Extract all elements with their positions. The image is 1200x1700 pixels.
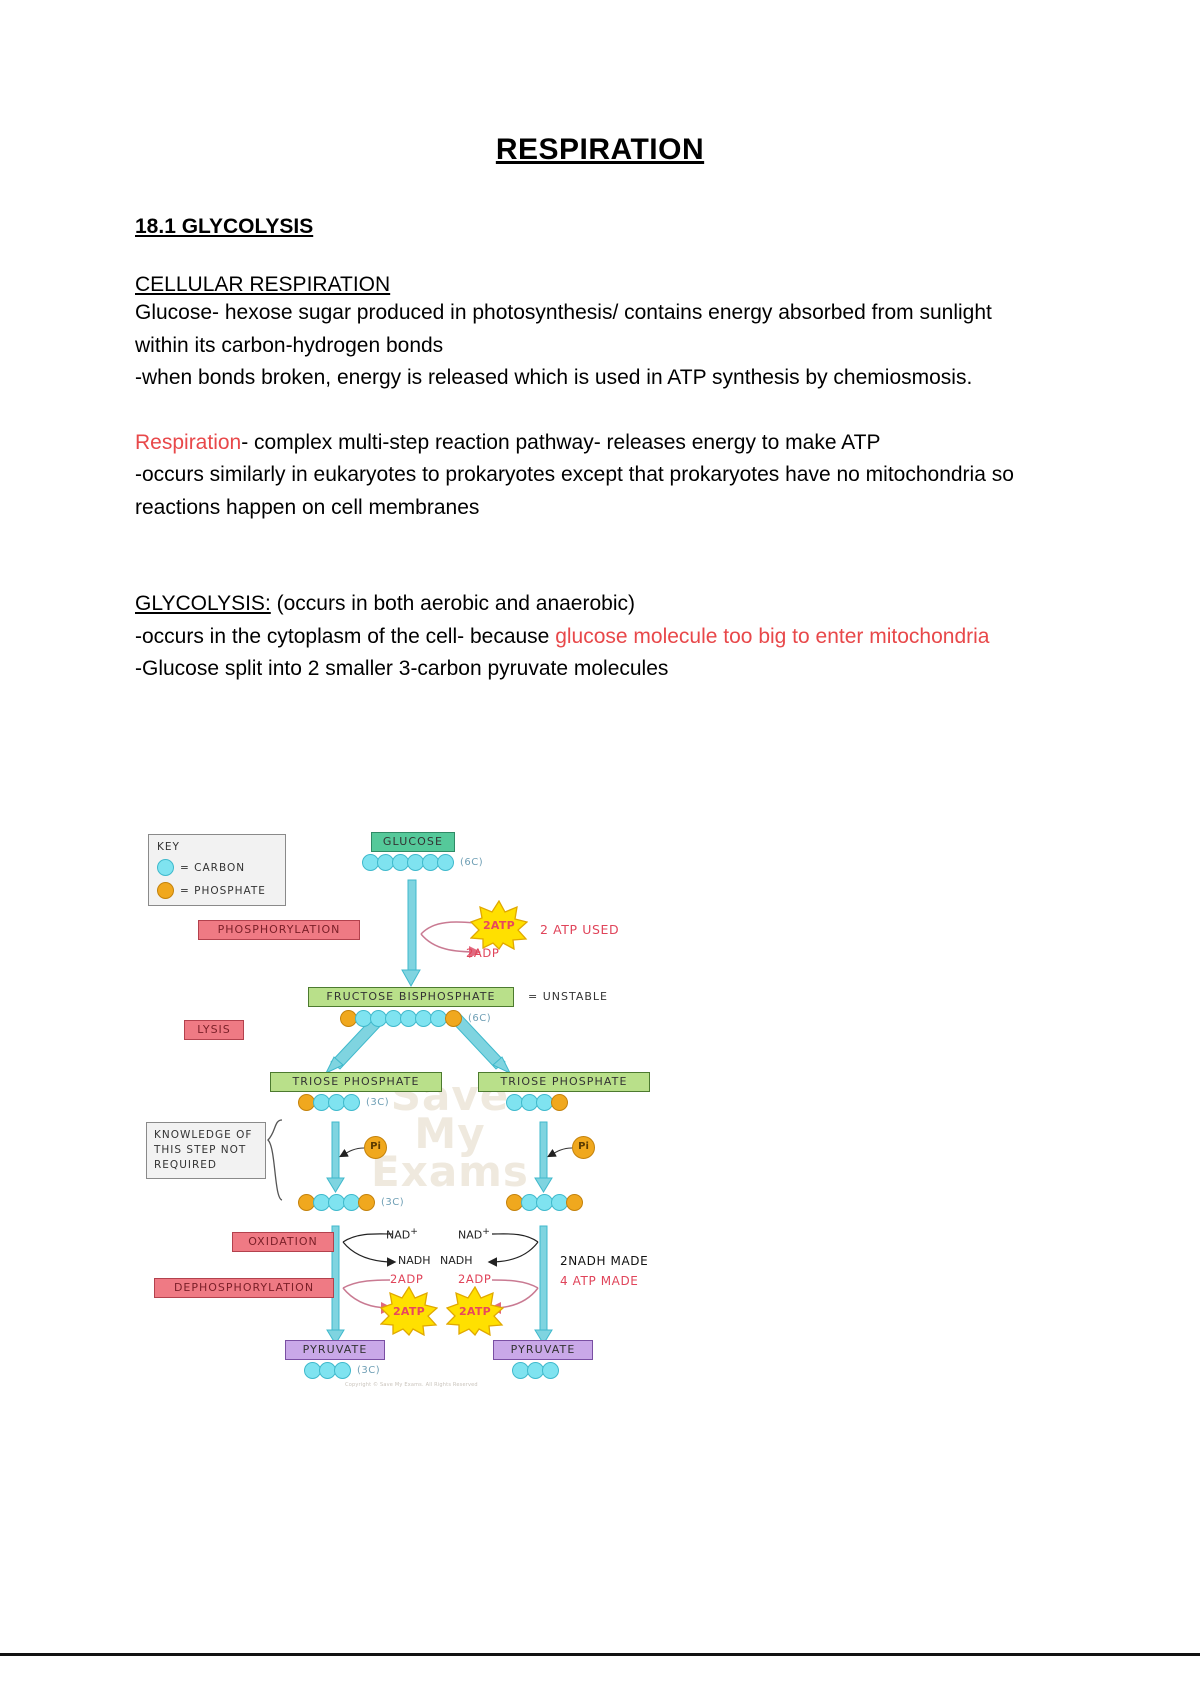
label-dephosphorylation: DEPHOSPHORYLATION <box>154 1278 334 1298</box>
label-triose-phosphate-right: TRIOSE PHOSPHATE <box>478 1072 650 1092</box>
nad-text: NAD <box>386 1229 410 1242</box>
phosphate-circle-icon <box>358 1194 375 1211</box>
page-title: RESPIRATION <box>0 133 1200 167</box>
label-lysis: LYSIS <box>184 1020 244 1040</box>
glycolysis-paragraph-2: -Glucose split into 2 smaller 3-carbon p… <box>135 653 1035 686</box>
nadh-label-right: NADH <box>440 1254 473 1267</box>
cellular-respiration-paragraph-2: -when bonds broken, energy is released w… <box>135 362 1035 395</box>
adp-label-right: 2ADP <box>458 1272 491 1286</box>
label-pyruvate-right: PYRUVATE <box>493 1340 593 1360</box>
molecule-triose-left-bottom: (3C) <box>298 1194 404 1211</box>
glycolysis-diagram: Save My Exams Copyright © Save My Exams.… <box>140 822 720 1402</box>
nadh-label-left: NADH <box>398 1254 431 1267</box>
glycolysis-paragraph-1: -occurs in the cytoplasm of the cell- be… <box>135 621 1035 654</box>
document-page: RESPIRATION 18.1 GLYCOLYSIS CELLULAR RES… <box>0 0 1200 1700</box>
carbon-circle-icon <box>437 854 454 871</box>
copyright-notice: Copyright © Save My Exams. All Rights Re… <box>345 1382 478 1388</box>
atp-star-label: 2ATP <box>380 1305 438 1318</box>
nad-plus-label-left: NAD+ <box>386 1226 418 1242</box>
atp-used-note: 2 ATP USED <box>540 922 619 937</box>
nad-text: NAD <box>458 1229 482 1242</box>
molecule-triose-right-bottom <box>506 1194 581 1211</box>
knowledge-note-box: KNOWLEDGE OF THIS STEP NOT REQUIRED <box>146 1122 266 1179</box>
nad-sup: + <box>410 1226 418 1237</box>
phosphate-circle-icon <box>157 882 174 899</box>
carbon-circle-icon <box>542 1362 559 1379</box>
atp-star-label: 2ATP <box>470 919 528 932</box>
key-carbon-label: = CARBON <box>180 862 245 874</box>
adp-label-left: 2ADP <box>390 1272 423 1286</box>
label-glucose: GLUCOSE <box>371 832 455 852</box>
document-body: 18.1 GLYCOLYSIS CELLULAR RESPIRATION Glu… <box>135 215 1035 686</box>
phosphate-circle-icon <box>551 1094 568 1111</box>
cellular-respiration-heading: CELLULAR RESPIRATION <box>135 273 1035 297</box>
cellular-respiration-paragraph-1: Glucose- hexose sugar produced in photos… <box>135 297 1035 362</box>
molecule-pyruvate-left: (3C) <box>304 1362 380 1379</box>
key-title: KEY <box>157 841 277 853</box>
glycolysis-heading-rest: (occurs in both aerobic and anaerobic) <box>271 592 635 615</box>
carbon-count-pyruvate-left: (3C) <box>357 1365 380 1376</box>
atp-star-label: 2ATP <box>446 1305 504 1318</box>
molecule-glucose: (6C) <box>362 854 483 871</box>
phosphate-circle-icon <box>445 1010 462 1027</box>
carbon-count-fructose: (6C) <box>468 1013 491 1024</box>
nad-plus-label-right: NAD+ <box>458 1226 490 1242</box>
molecule-pyruvate-right <box>512 1362 557 1379</box>
label-oxidation: OXIDATION <box>232 1232 334 1252</box>
label-phosphorylation: PHOSPHORYLATION <box>198 920 360 940</box>
glycolysis-heading-line: GLYCOLYSIS: (occurs in both aerobic and … <box>135 588 1035 621</box>
carbon-count-triose-left-2: (3C) <box>381 1197 404 1208</box>
phosphate-circle-icon <box>566 1194 583 1211</box>
glycolysis-heading: GLYCOLYSIS: <box>135 592 271 615</box>
key-row-carbon: = CARBON <box>157 859 277 876</box>
glycolysis-p1-red: glucose molecule too big to enter mitoch… <box>555 625 989 648</box>
page-bottom-rule <box>0 1653 1200 1656</box>
atp-burst-left: 2ATP <box>380 1286 438 1336</box>
molecule-triose-right-top <box>506 1094 566 1111</box>
molecule-fructose-bisphosphate: (6C) <box>340 1010 491 1027</box>
respiration-definition: Respiration- complex multi-step reaction… <box>135 427 1035 460</box>
carbon-count-triose-left: (3C) <box>366 1097 389 1108</box>
pi-label: Pi <box>370 1141 381 1152</box>
respiration-definition-text: - complex multi-step reaction pathway- r… <box>241 431 880 454</box>
adp-top-label: 2ADP <box>466 946 499 960</box>
label-pyruvate-left: PYRUVATE <box>285 1340 385 1360</box>
key-phosphate-label: = PHOSPHATE <box>180 885 266 897</box>
label-fructose-bisphosphate: FRUCTOSE BISPHOSPHATE <box>308 987 514 1007</box>
glycolysis-p1-black: -occurs in the cytoplasm of the cell- be… <box>135 625 555 648</box>
pi-label: Pi <box>578 1141 589 1152</box>
carbon-circle-icon <box>334 1362 351 1379</box>
key-legend: KEY = CARBON = PHOSPHATE <box>148 834 286 906</box>
nad-sup: + <box>482 1226 490 1237</box>
molecule-triose-left-top: (3C) <box>298 1094 389 1111</box>
atp-burst-top: 2ATP <box>470 900 528 950</box>
respiration-term: Respiration <box>135 431 241 454</box>
carbon-circle-icon <box>157 859 174 876</box>
inorganic-phosphate-icon-right: Pi <box>572 1136 595 1159</box>
key-row-phosphate: = PHOSPHATE <box>157 882 277 899</box>
label-triose-phosphate-left: TRIOSE PHOSPHATE <box>270 1072 442 1092</box>
inorganic-phosphate-icon-left: Pi <box>364 1136 387 1159</box>
atp-made-note: 4 ATP MADE <box>560 1274 639 1288</box>
respiration-paragraph-2: -occurs similarly in eukaryotes to proka… <box>135 459 1035 524</box>
section-heading: 18.1 GLYCOLYSIS <box>135 215 1035 239</box>
nadh-made-note: 2NADH MADE <box>560 1254 648 1268</box>
carbon-circle-icon <box>343 1094 360 1111</box>
unstable-note: = UNSTABLE <box>528 990 608 1003</box>
atp-burst-right: 2ATP <box>446 1286 504 1336</box>
carbon-count-glucose: (6C) <box>460 857 483 868</box>
